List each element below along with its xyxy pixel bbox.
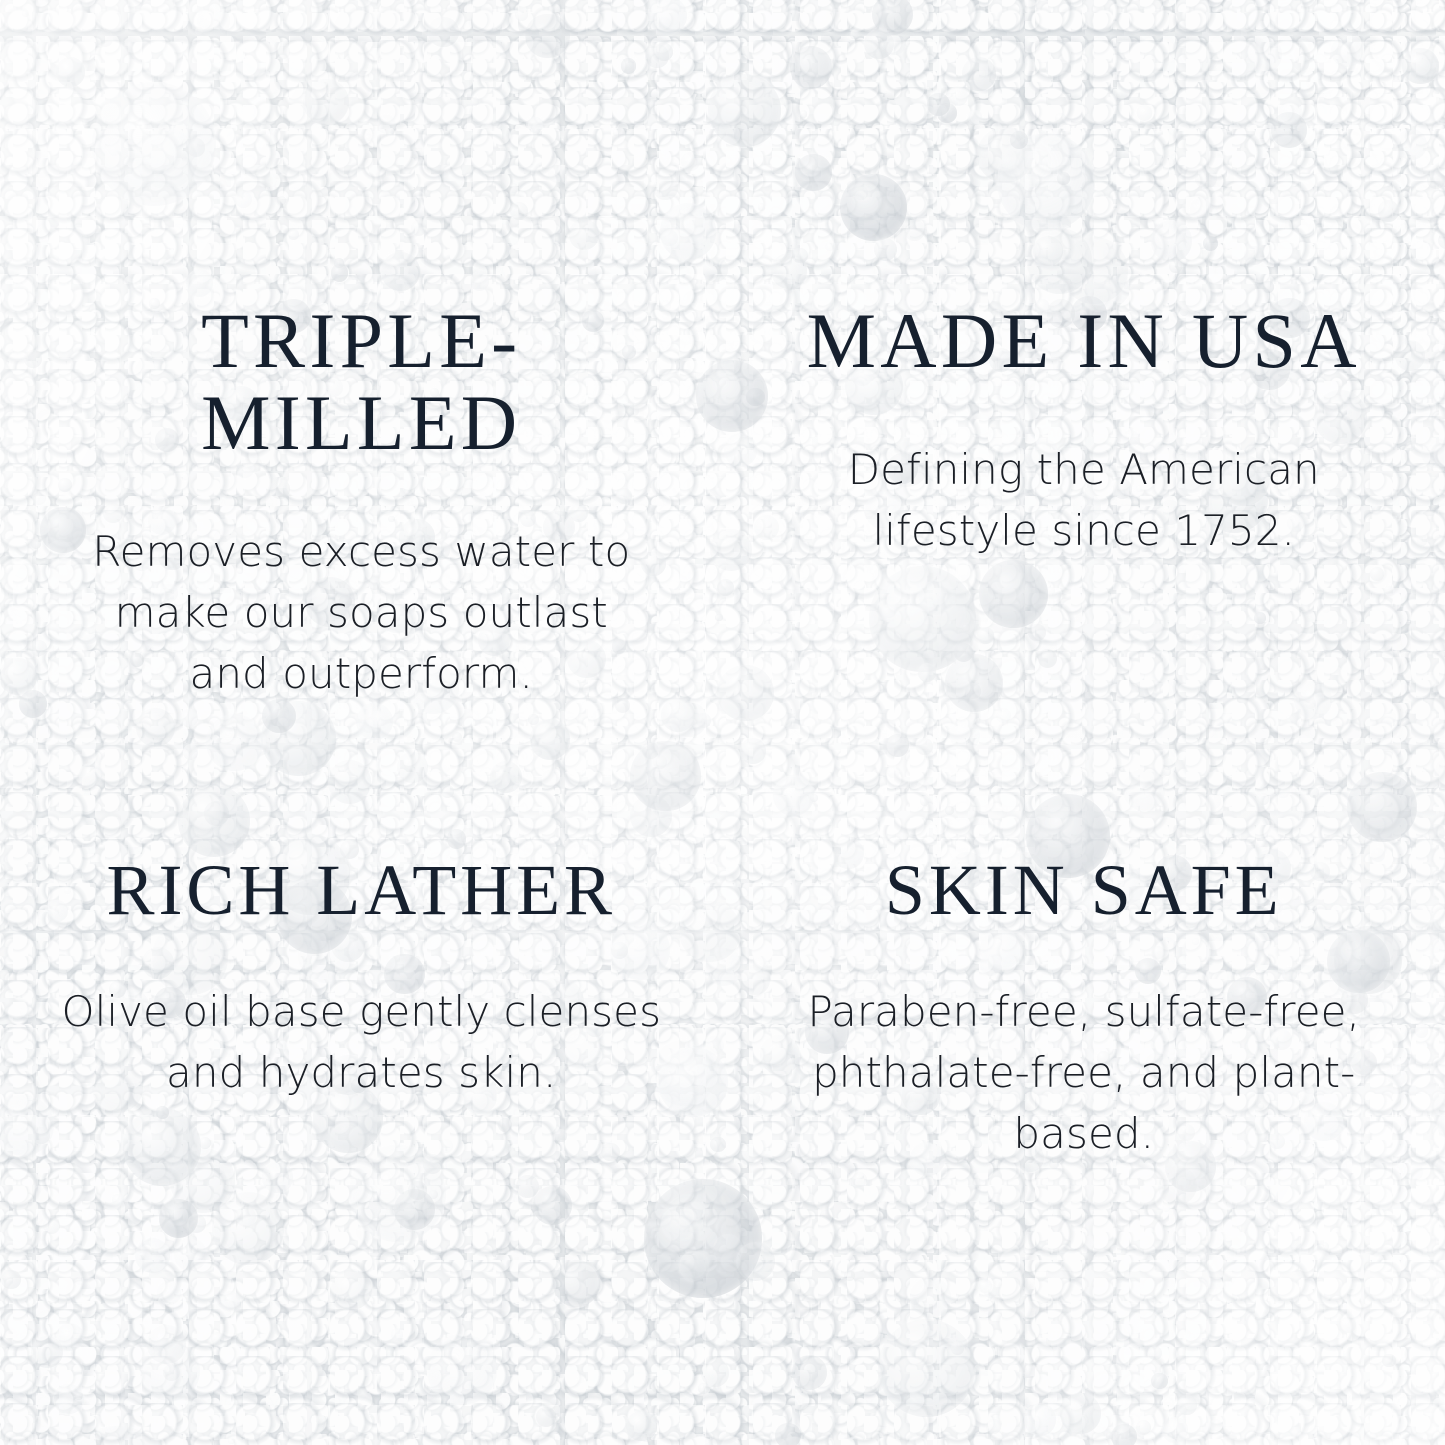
feature-title-skin-safe: SKIN SAFE xyxy=(885,853,1283,929)
feature-title-triple-milled: TRIPLE-MILLED xyxy=(90,300,633,464)
feature-description-triple-milled: Removes excess water to make our soaps o… xyxy=(90,522,633,705)
feature-made-in-usa: MADE IN USA Defining the American lifest… xyxy=(723,0,1445,723)
feature-description-rich-lather: Olive oil base gently clenses and hydrat… xyxy=(41,982,681,1104)
feature-triple-milled: TRIPLE-MILLED Removes excess water to ma… xyxy=(0,0,723,723)
feature-description-skin-safe: Paraben-free, sulfate-free, phthalate-fr… xyxy=(794,982,1374,1165)
feature-title-rich-lather: RICH LATHER xyxy=(106,853,616,929)
feature-skin-safe: SKIN SAFE Paraben-free, sulfate-free, ph… xyxy=(723,723,1445,1445)
feature-description-made-in-usa: Defining the American lifestyle since 17… xyxy=(814,440,1354,562)
feature-grid: TRIPLE-MILLED Removes excess water to ma… xyxy=(0,0,1445,1445)
feature-title-made-in-usa: MADE IN USA xyxy=(807,300,1361,382)
feature-rich-lather: RICH LATHER Olive oil base gently clense… xyxy=(0,723,723,1445)
product-feature-graphic: TRIPLE-MILLED Removes excess water to ma… xyxy=(0,0,1445,1445)
